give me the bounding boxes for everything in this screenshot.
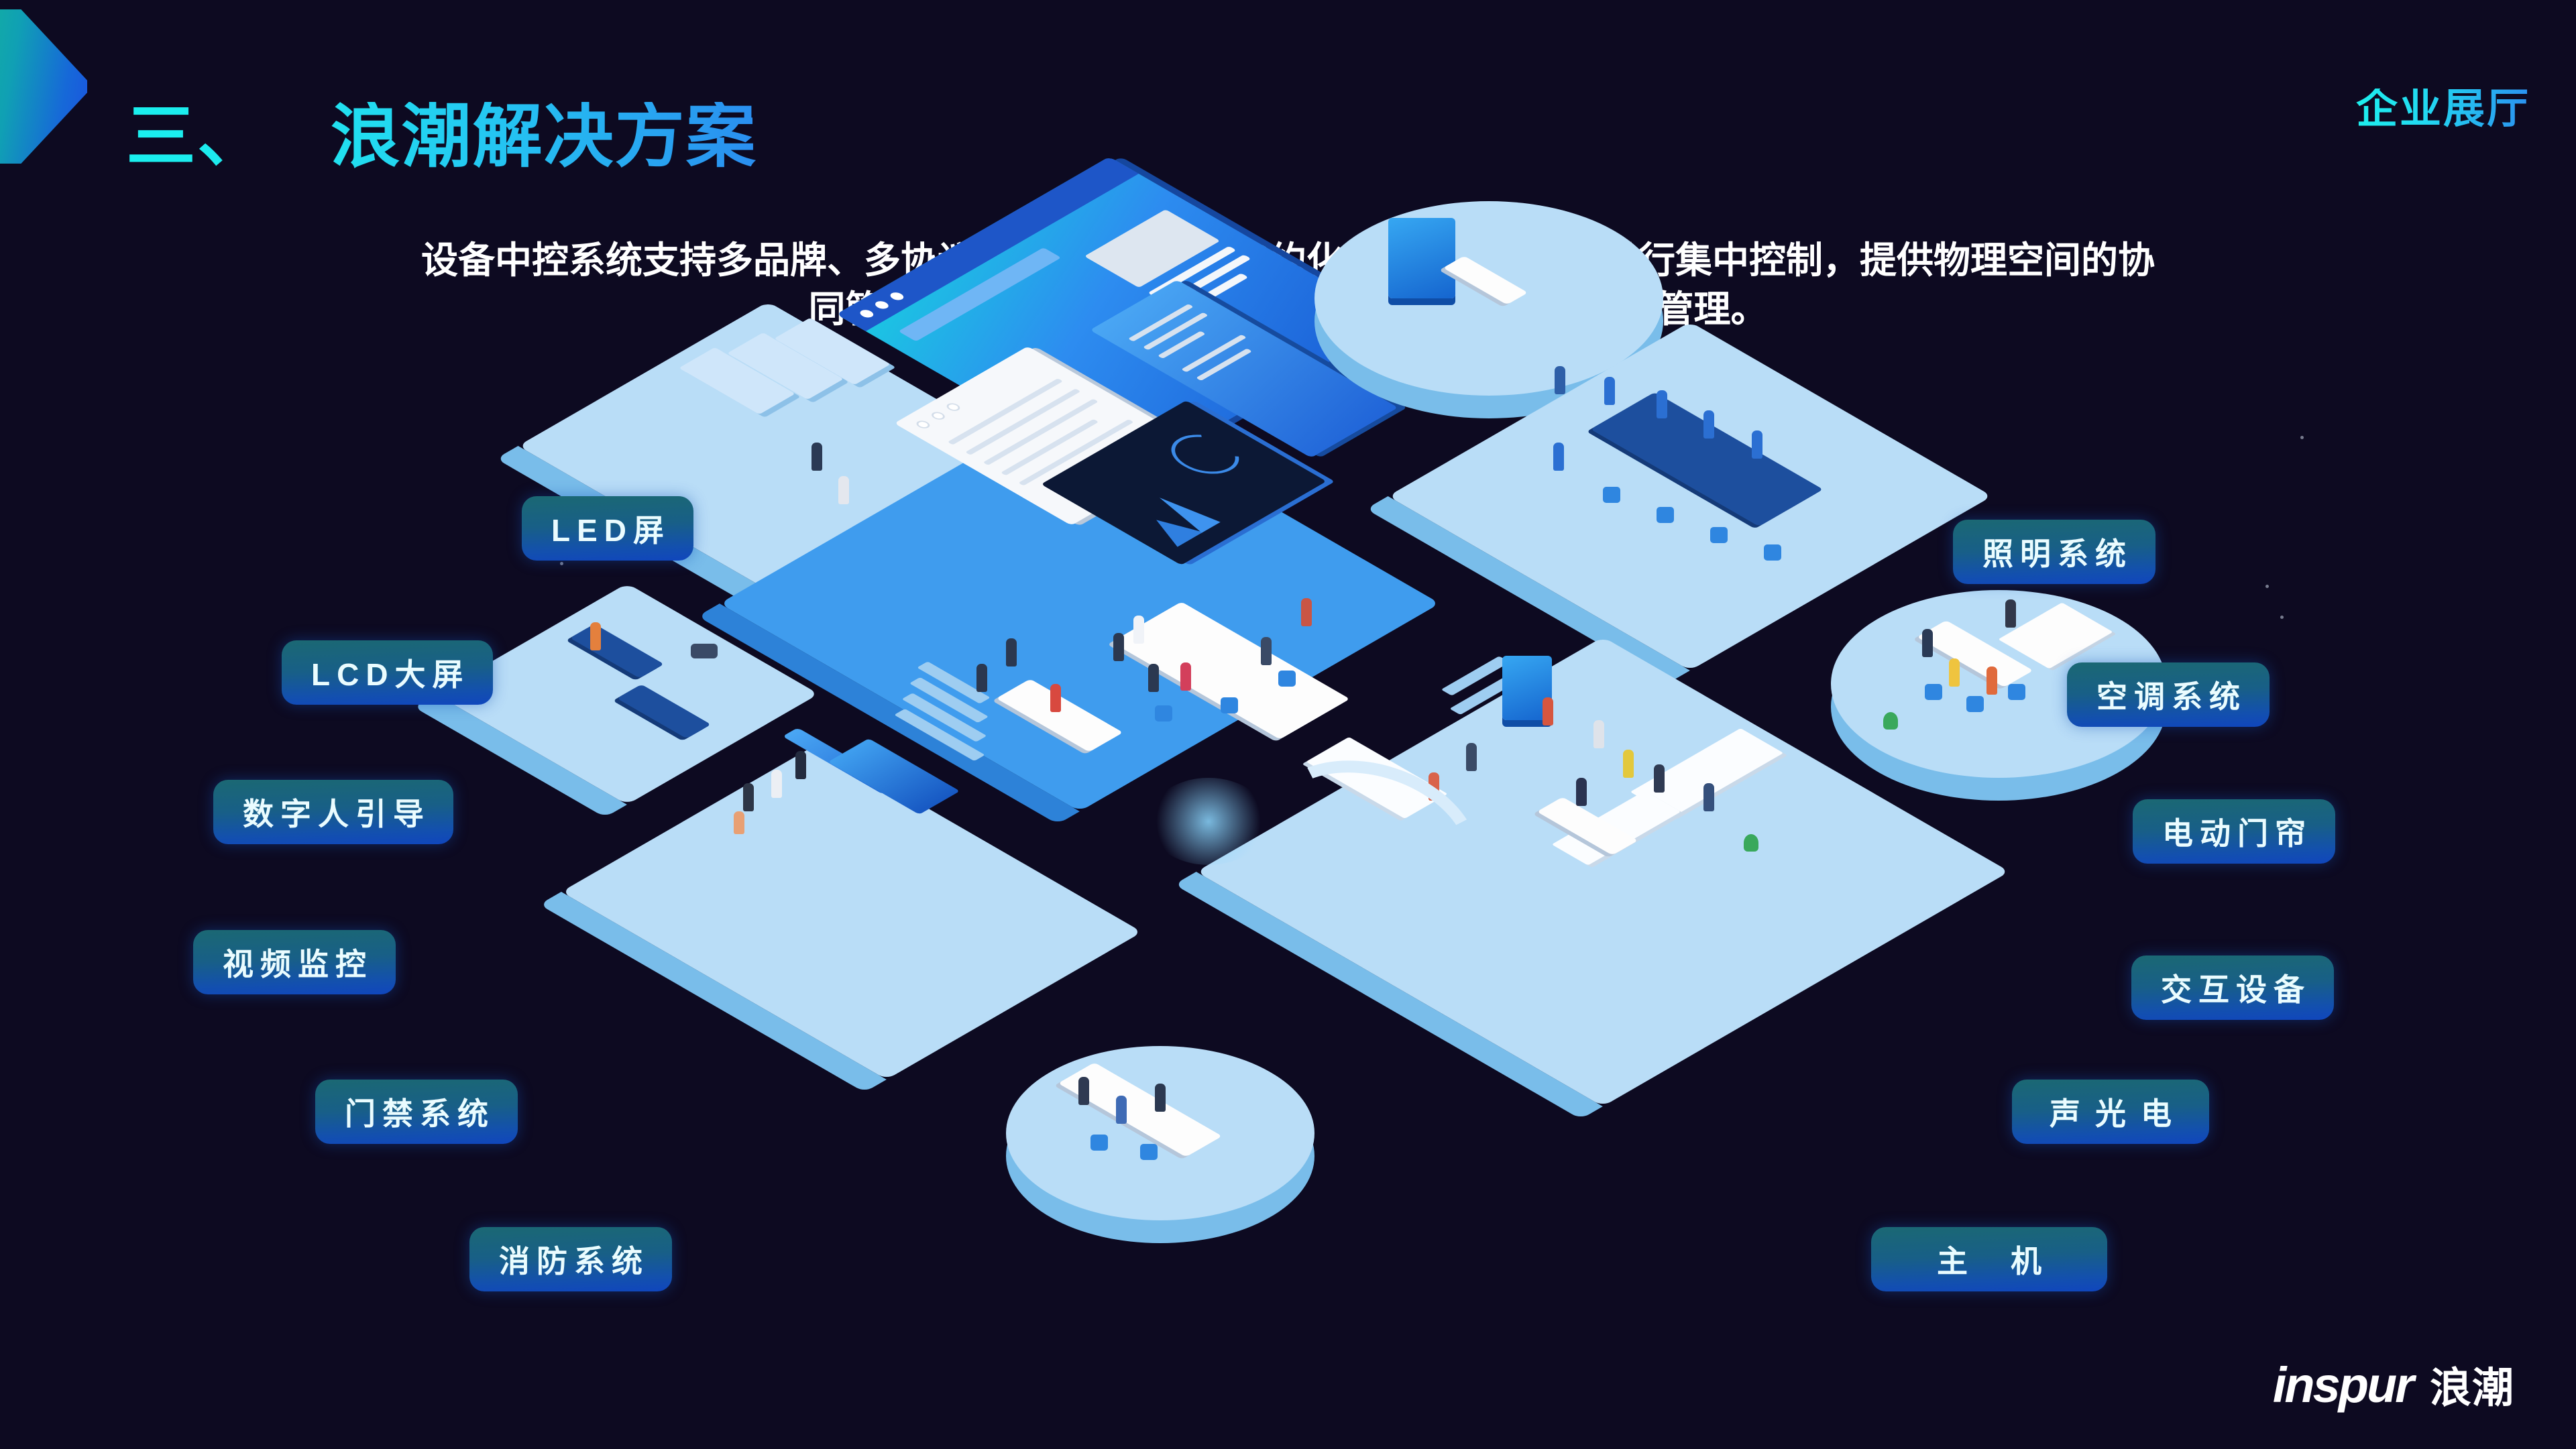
tag-led-screen[interactable]: LED屏 (522, 496, 693, 561)
tag-interactive-device[interactable]: 交互设备 (2131, 955, 2334, 1020)
tag-lcd-large-screen[interactable]: LCD大屏 (282, 640, 493, 705)
tag-video-surveillance[interactable]: 视频监控 (193, 930, 396, 994)
tag-lighting-system[interactable]: 照明系统 (1953, 520, 2155, 584)
tag-digital-human-guide[interactable]: 数字人引导 (213, 780, 453, 844)
tag-hvac-system[interactable]: 空调系统 (2067, 662, 2270, 727)
tag-fire-protection[interactable]: 消防系统 (469, 1227, 672, 1291)
slide-root: 三、 浪潮解决方案 企业展厅 设备中控系统支持多品牌、多协议、多平台接入，集约化… (0, 0, 2576, 1449)
corner-chevron-decoration (0, 9, 87, 164)
page-title: 三、 浪潮解决方案 (126, 102, 757, 172)
logo-chinese-name: 浪潮 (2430, 1354, 2514, 1414)
logo-wordmark: inspur (2273, 1356, 2412, 1413)
spotlight-glow (1148, 778, 1269, 865)
tag-electric-curtain[interactable]: 电动门帘 (2133, 799, 2335, 864)
tag-access-control[interactable]: 门禁系统 (315, 1080, 518, 1144)
projector-unit (1388, 218, 1455, 298)
tag-host-controller[interactable]: 主机 (1871, 1227, 2107, 1291)
section-corner-title: 企业展厅 (2356, 89, 2530, 130)
platform-projection-booth (1314, 201, 1663, 396)
tag-sound-light-power[interactable]: 声光电 (2012, 1080, 2209, 1144)
inspur-logo: inspur 浪潮 (2273, 1354, 2514, 1414)
